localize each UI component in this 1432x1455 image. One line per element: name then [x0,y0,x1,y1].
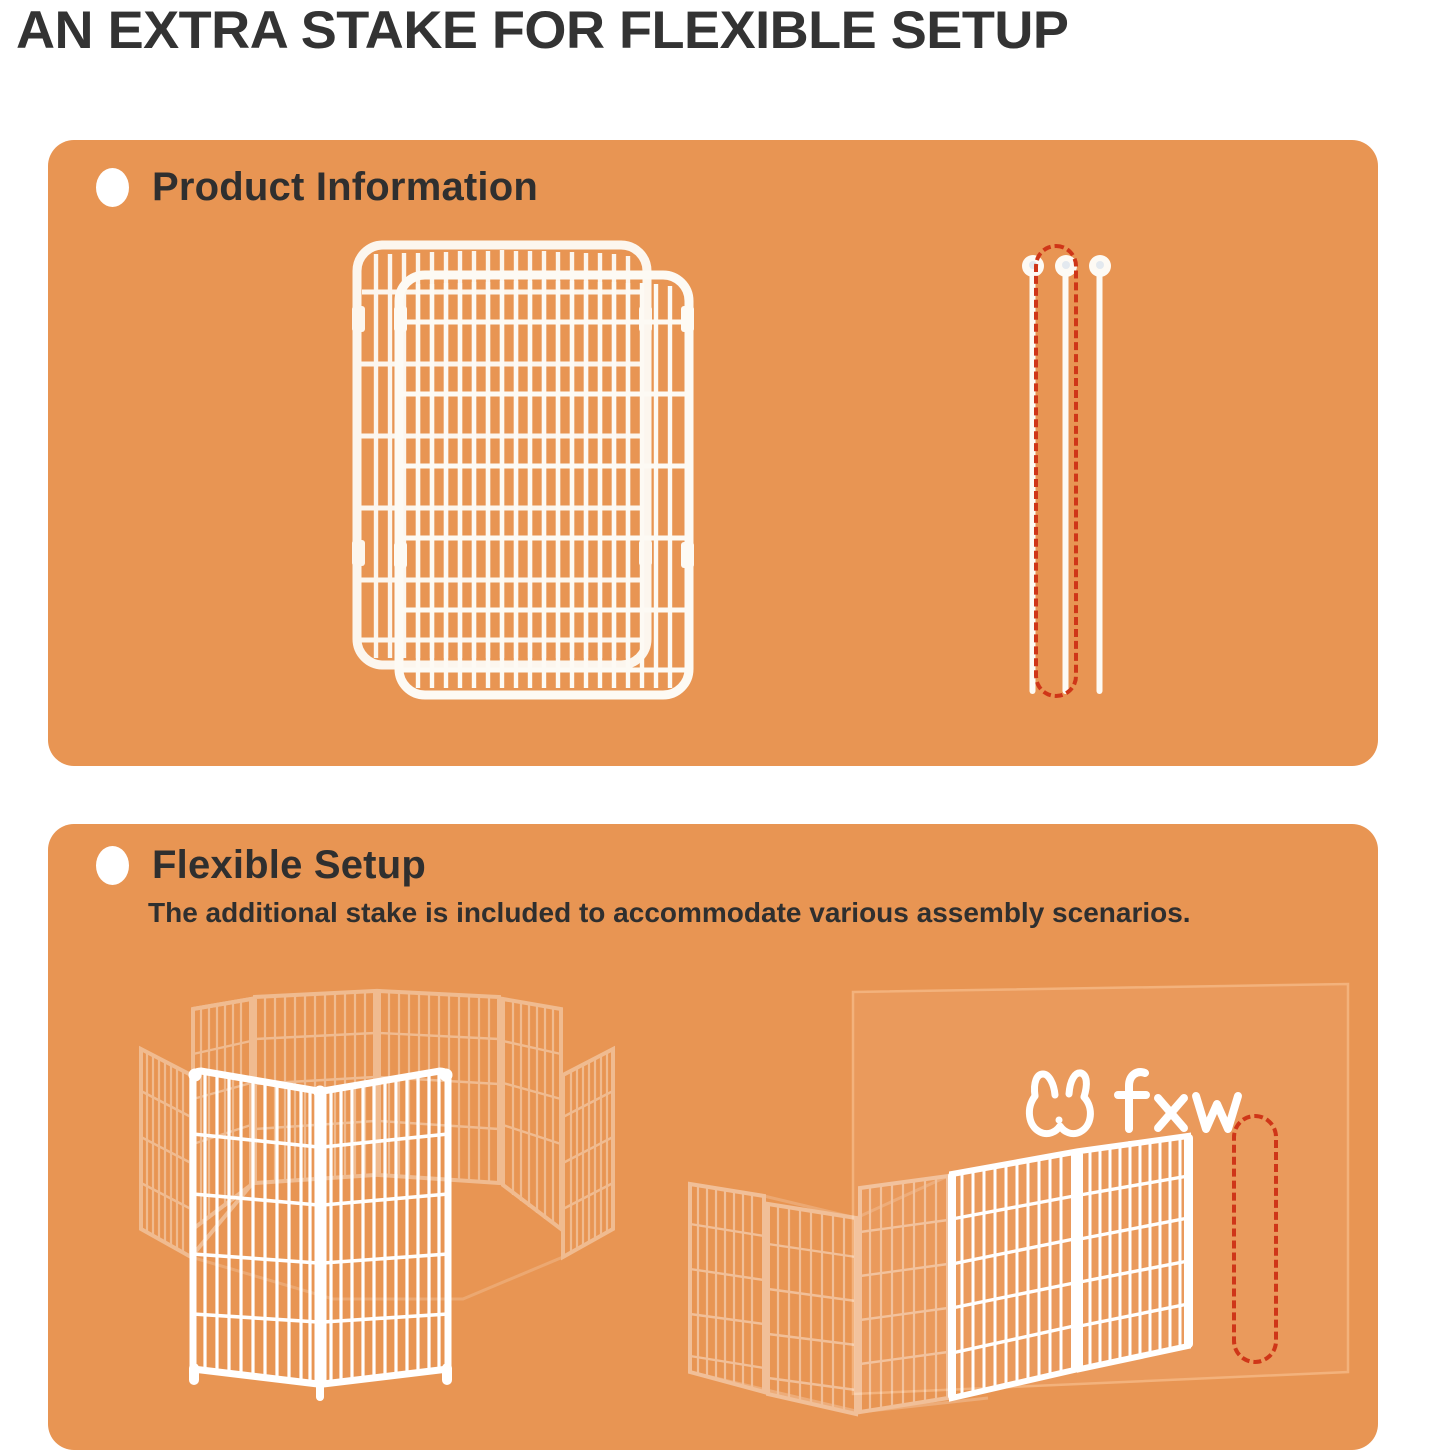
extra-stake-highlight-icon [1232,1114,1278,1364]
card-header-flexible-setup: Flexible Setup [96,842,426,888]
extra-stake-highlight-icon [1034,244,1078,698]
card-product-information: Product Information [48,140,1378,766]
white-dot-bullet-icon [96,168,129,207]
card-header-product-information: Product Information [96,164,538,210]
card-title-flexible-setup: Flexible Setup [152,842,426,888]
infographic-page: AN EXTRA STAKE FOR FLEXIBLE SETUP Produc… [0,0,1432,1455]
card-subtitle-flexible-setup: The additional stake is included to acco… [148,896,1191,930]
card-title-product-information: Product Information [152,164,538,210]
page-title: AN EXTRA STAKE FOR FLEXIBLE SETUP [16,2,1432,60]
card-flexible-setup: Flexible Setup The additional stake is i… [48,824,1378,1450]
white-dot-bullet-icon [96,846,129,885]
wire-fence-panels-illustration [348,240,768,720]
octagon-playpen-illustration [133,979,643,1424]
